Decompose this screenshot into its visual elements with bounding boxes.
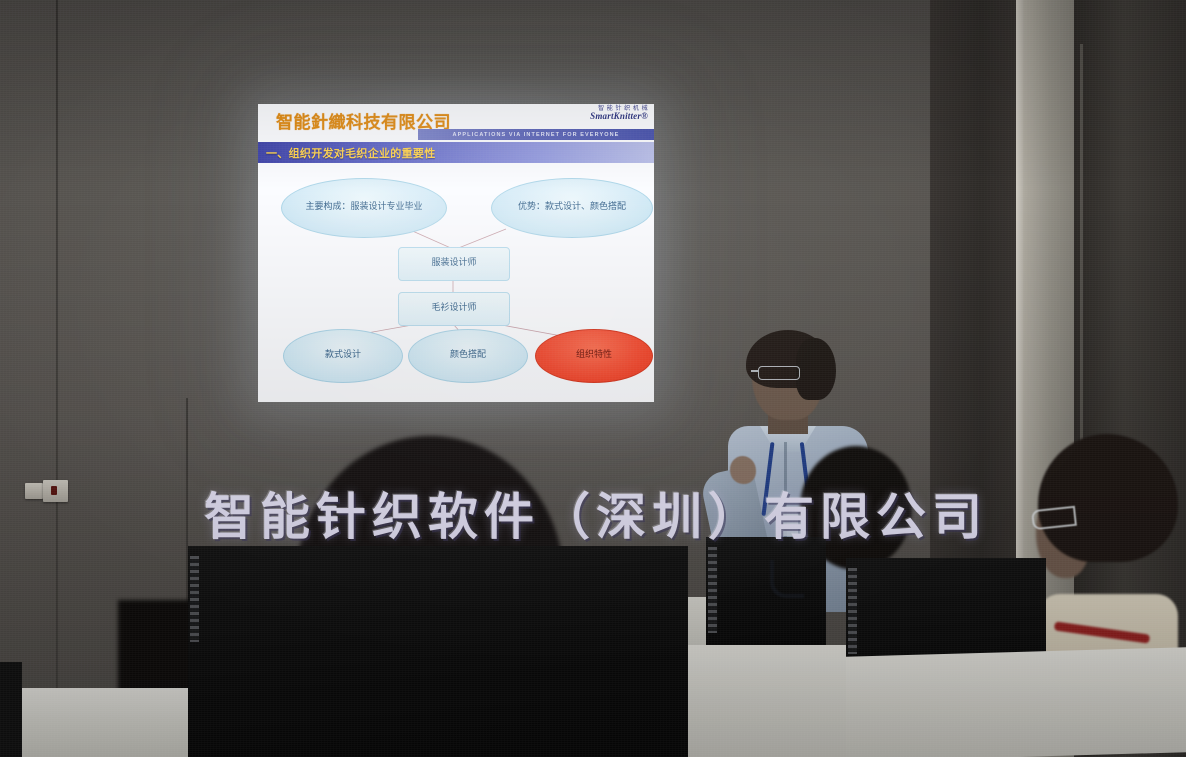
logo-brand-text: SmartKnitter® <box>590 112 648 121</box>
presenter-hair-back <box>796 338 836 400</box>
diagram-node-label: 款式设计 <box>325 351 361 361</box>
monitor-ports <box>190 556 199 642</box>
diagram-node-label: 组织特性 <box>576 351 612 361</box>
slide-diagram: 主要构成：服装设计专业毕业 优势：款式设计、颜色搭配 服装设计师 毛衫设计师 款… <box>258 163 654 402</box>
diagram-node-label: 主要构成：服装设计专业毕业 <box>305 203 422 213</box>
slide-header: 智能針織科技有限公司 智 能 针 织 机 械 SmartKnitter® APP… <box>258 104 654 142</box>
diagram-node-advantage: 优势：款式设计、颜色搭配 <box>491 178 653 238</box>
audience-hair <box>1038 434 1178 562</box>
slide-section-bar: 一、组织开发对毛织企业的重要性 <box>258 142 654 163</box>
diagram-node-color-matching: 颜色搭配 <box>408 329 528 383</box>
photo-scene: 智能針織科技有限公司 智 能 针 织 机 械 SmartKnitter® APP… <box>0 0 1186 757</box>
desk-center <box>688 645 848 757</box>
watermark-company-name: 智能针织软件（深圳）有限公司 <box>204 492 988 542</box>
projection-screen: 智能針織科技有限公司 智 能 针 织 机 械 SmartKnitter® APP… <box>258 104 654 402</box>
monitor-cable <box>770 560 804 598</box>
presenter-hand <box>730 456 756 484</box>
door-frame-edge <box>1080 44 1083 464</box>
diagram-node-fabric-structure: 组织特性 <box>535 329 653 383</box>
company-logo: 智 能 针 织 机 械 SmartKnitter® <box>590 106 648 122</box>
monitor-front-left <box>188 546 688 757</box>
diagram-node-label: 颜色搭配 <box>450 351 486 361</box>
monitor-back-center <box>706 537 826 647</box>
light-switch-plate[interactable] <box>43 480 68 502</box>
diagram-node-sweater-designer: 毛衫设计师 <box>398 292 510 326</box>
diagram-node-label: 优势：款式设计、颜色搭配 <box>518 203 626 213</box>
diagram-node-label: 服装设计师 <box>431 259 476 269</box>
wall-seam-left <box>56 0 58 757</box>
tagline-text: APPLICATIONS VIA INTERNET FOR EVERYONE <box>453 132 620 138</box>
tagline-bar: APPLICATIONS VIA INTERNET FOR EVERYONE <box>418 129 654 140</box>
diagram-node-label: 毛衫设计师 <box>431 304 476 314</box>
diagram-node-main-composition: 主要构成：服装设计专业毕业 <box>281 178 447 238</box>
diagram-node-style-design: 款式设计 <box>283 329 403 383</box>
desk-front-right <box>846 647 1186 757</box>
diagram-node-apparel-designer: 服装设计师 <box>398 247 510 281</box>
monitor-ports <box>708 547 717 633</box>
desk-front-left <box>22 688 188 757</box>
monitor-far-left <box>0 662 22 757</box>
monitor-ports <box>848 568 857 654</box>
light-switch-plate-small[interactable] <box>25 483 43 499</box>
presenter-glasses <box>758 366 800 380</box>
slide-section-heading: 一、组织开发对毛织企业的重要性 <box>266 145 436 161</box>
